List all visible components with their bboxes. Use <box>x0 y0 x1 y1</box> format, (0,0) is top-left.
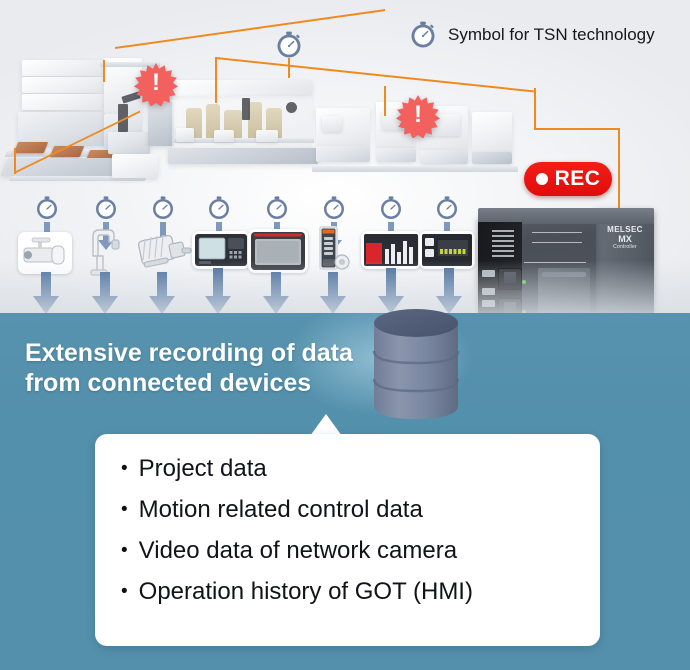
tsn-stopwatch-icon <box>378 195 404 221</box>
alert-burst-1: ! <box>134 62 178 106</box>
list-item-label: Video data of network camera <box>139 538 457 565</box>
database-cylinder <box>370 305 462 425</box>
tsn-stopwatch-icon <box>274 30 304 60</box>
tsn-stopwatch-icon <box>206 195 232 221</box>
tsn-stopwatch-icon <box>434 195 460 221</box>
panel-headline: Extensive recording of data from connect… <box>25 338 370 398</box>
flow-arrow-down <box>92 272 118 319</box>
list-item-label: Operation history of GOT (HMI) <box>139 579 473 606</box>
plc-brand-line3: Controller <box>598 245 652 251</box>
list-item-label: Project data <box>139 456 267 483</box>
device-io-module <box>419 231 475 269</box>
tsn-stopwatch-icon <box>93 195 119 221</box>
flow-arrow-down <box>33 272 59 319</box>
alert-exclamation: ! <box>396 94 440 138</box>
flow-arrow-down <box>205 268 231 319</box>
device-servo-motor <box>132 228 194 274</box>
recorded-data-list: • Project data • Motion related control … <box>121 456 582 620</box>
device-servo-amplifier <box>308 224 358 276</box>
bullet-icon: • <box>121 541 128 560</box>
network-line <box>103 60 105 82</box>
network-line <box>115 9 385 49</box>
alert-burst-2: ! <box>396 94 440 138</box>
tsn-stopwatch-icon <box>321 195 347 221</box>
callout-box: • Project data • Motion related control … <box>95 434 600 646</box>
network-line <box>288 58 290 78</box>
plc-brand-label: MELSEC MX Controller <box>598 225 652 250</box>
headline-line-2: from connected devices <box>25 368 370 398</box>
factory-illustration <box>0 46 560 216</box>
callout-pointer <box>310 414 342 436</box>
rec-badge: REC <box>524 162 612 196</box>
network-line <box>384 86 386 116</box>
tsn-stopwatch-icon <box>264 195 290 221</box>
legend-label: Symbol for TSN technology <box>448 25 655 45</box>
bullet-icon: • <box>121 459 128 478</box>
flow-arrow-down <box>320 272 346 319</box>
plc-brand-line2: MX <box>598 234 652 244</box>
flow-arrow-down <box>149 272 175 319</box>
record-dot-icon <box>536 173 548 185</box>
bullet-icon: • <box>121 582 128 601</box>
rec-label: REC <box>555 167 601 191</box>
list-item: • Project data <box>121 456 582 483</box>
network-line <box>534 88 536 130</box>
legend: Symbol for TSN technology <box>408 20 655 50</box>
bullet-icon: • <box>121 500 128 519</box>
tsn-stopwatch-icon <box>150 195 176 221</box>
list-item: • Motion related control data <box>121 497 582 524</box>
flow-arrow-down <box>263 272 289 319</box>
network-line <box>618 128 620 210</box>
list-item: • Video data of network camera <box>121 538 582 565</box>
factory-scene: ! ! REC <box>0 0 690 316</box>
headline-line-1: Extensive recording of data <box>25 338 370 368</box>
device-network-camera <box>18 232 72 274</box>
list-item-label: Motion related control data <box>139 497 423 524</box>
stopwatch-icon <box>408 20 438 50</box>
device-got-hmi-panel <box>248 229 308 273</box>
infographic-root: ! ! REC <box>0 0 690 670</box>
plc-brand-line1: MELSEC <box>598 225 652 234</box>
device-cnc-controller <box>192 231 250 269</box>
list-item: • Operation history of GOT (HMI) <box>121 579 582 606</box>
tsn-stopwatch-icon <box>34 195 60 221</box>
ethernet-port-p1 <box>498 268 522 290</box>
device-robot-arm <box>79 222 129 276</box>
device-inverter-unit <box>361 231 421 269</box>
network-line <box>536 128 620 130</box>
network-line <box>215 57 217 103</box>
alert-exclamation: ! <box>134 62 178 106</box>
